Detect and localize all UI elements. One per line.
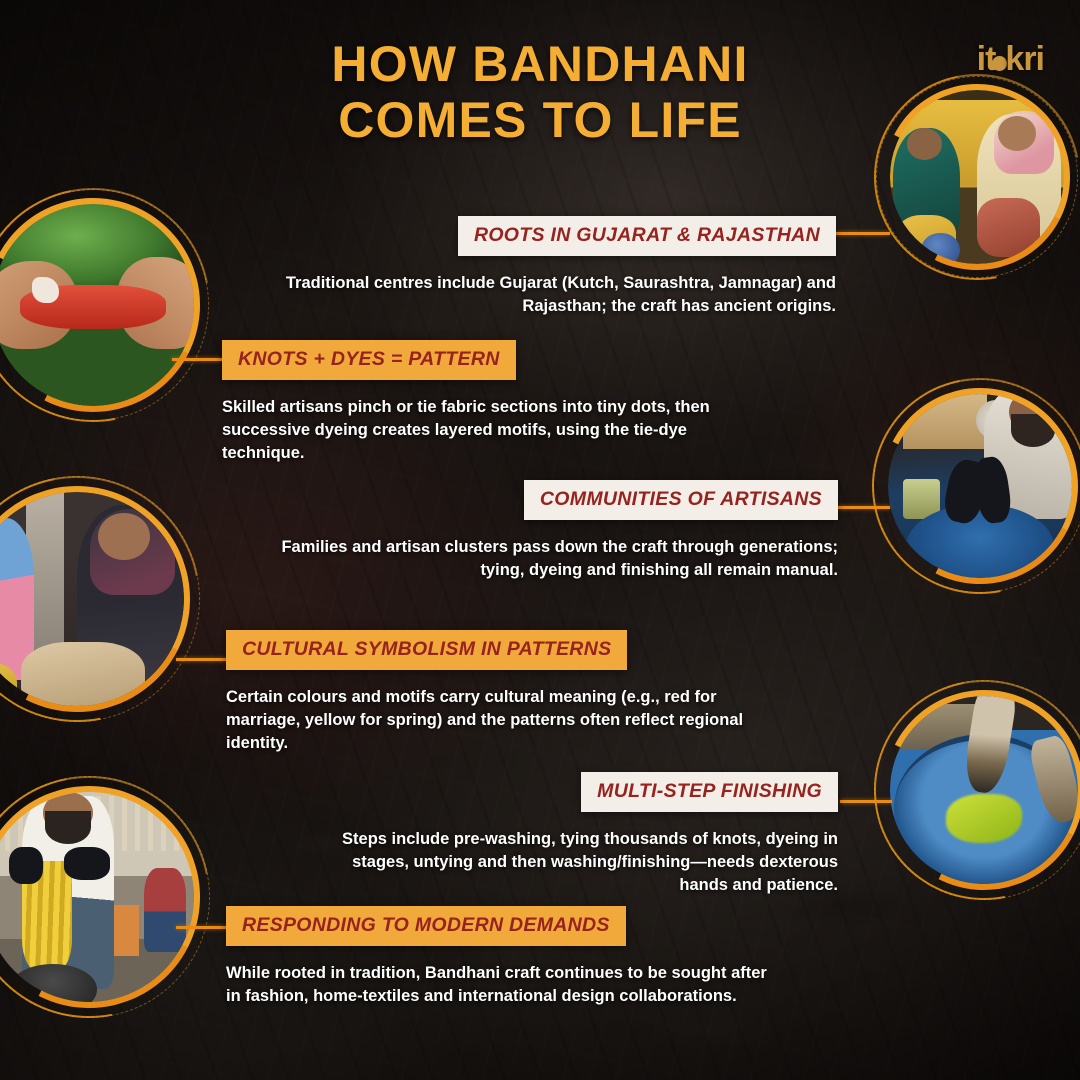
section-heading-communities: COMMUNITIES OF ARTISANS bbox=[524, 480, 838, 520]
section-body-cultural-symbolism: Certain colours and motifs carry cultura… bbox=[226, 686, 766, 754]
page-title-line-1: HOW BANDHANI bbox=[0, 36, 1080, 92]
connector-communities bbox=[838, 506, 890, 509]
logo-text-last: kri bbox=[1005, 40, 1044, 78]
page-title: HOW BANDHANI COMES TO LIFE bbox=[0, 36, 1080, 148]
section-heading-knots-dyes: KNOTS + DYES = PATTERN bbox=[222, 340, 516, 380]
section-body-modern-demands: While rooted in tradition, Bandhani craf… bbox=[226, 962, 786, 1008]
photo-blue-dye-vat bbox=[890, 696, 1078, 884]
photo-man-yellow-fabric bbox=[0, 792, 194, 1002]
photo-women-artisans bbox=[0, 492, 184, 706]
photo-hands-tying-red bbox=[0, 204, 194, 406]
section-body-multi-step-finishing: Steps include pre-washing, tying thousan… bbox=[320, 828, 838, 896]
connector-roots bbox=[836, 232, 890, 235]
section-multi-step-finishing: MULTI-STEP FINISHING Steps include pre-w… bbox=[320, 772, 838, 896]
section-body-roots: Traditional centres include Gujarat (Kut… bbox=[280, 272, 836, 318]
connector-multi-step-finishing bbox=[840, 800, 892, 803]
section-communities: COMMUNITIES OF ARTISANS Families and art… bbox=[250, 480, 838, 582]
section-body-knots-dyes: Skilled artisans pinch or tie fabric sec… bbox=[222, 396, 752, 464]
section-body-communities: Families and artisan clusters pass down … bbox=[250, 536, 838, 582]
section-roots: ROOTS IN GUJARAT & RAJASTHAN Traditional… bbox=[280, 216, 836, 318]
section-cultural-symbolism: CULTURAL SYMBOLISM IN PATTERNS Certain c… bbox=[226, 630, 766, 754]
section-heading-modern-demands: RESPONDING TO MODERN DEMANDS bbox=[226, 906, 626, 946]
crate-label: y.y bbox=[914, 401, 930, 413]
connector-knots-dyes bbox=[172, 358, 222, 361]
photo-dyer-blue-vat: y.y bbox=[888, 394, 1072, 578]
section-knots-dyes: KNOTS + DYES = PATTERN Skilled artisans … bbox=[222, 340, 752, 464]
connector-modern-demands bbox=[176, 926, 226, 929]
connector-cultural-symbolism bbox=[176, 658, 226, 661]
section-heading-cultural-symbolism: CULTURAL SYMBOLISM IN PATTERNS bbox=[226, 630, 627, 670]
section-modern-demands: RESPONDING TO MODERN DEMANDS While roote… bbox=[226, 906, 786, 1008]
itokri-logo[interactable]: itkri bbox=[977, 40, 1044, 79]
page-title-line-2: COMES TO LIFE bbox=[0, 92, 1080, 148]
section-heading-roots: ROOTS IN GUJARAT & RAJASTHAN bbox=[458, 216, 836, 256]
section-heading-multi-step-finishing: MULTI-STEP FINISHING bbox=[581, 772, 838, 812]
